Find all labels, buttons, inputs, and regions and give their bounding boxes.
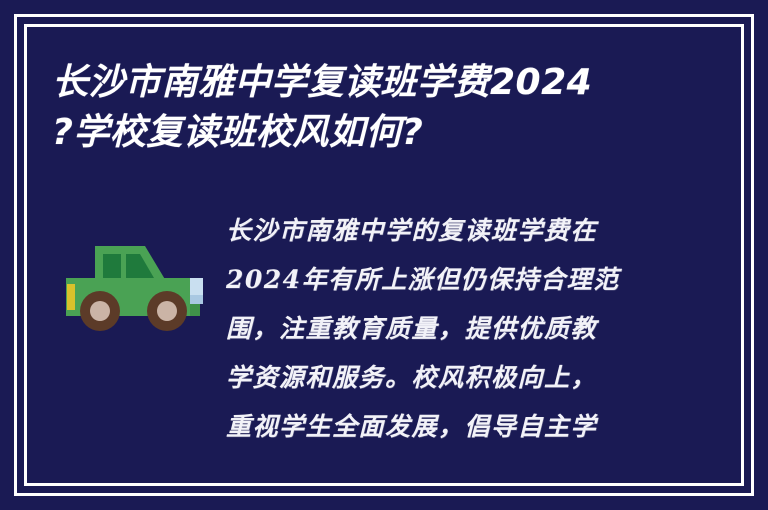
truck-illustration — [62, 232, 214, 340]
body-line-5: 重视学生全面发展，倡导自主学 — [226, 402, 656, 451]
body-line-4: 学资源和服务。校风积极向上， — [226, 353, 656, 402]
title-line-1: 长沙市南雅中学复读班学费2024 — [52, 58, 742, 108]
body-paragraph: 长沙市南雅中学的复读班学费在 2024年有所上涨但仍保持合理范 围，注重教育质量… — [226, 206, 656, 451]
body-line-3: 围，注重教育质量，提供优质教 — [226, 304, 656, 353]
body-line-2: 2024年有所上涨但仍保持合理范 — [226, 255, 656, 304]
green-pickup-truck-icon — [62, 232, 214, 340]
title-line-2: ?学校复读班校风如何? — [52, 108, 742, 158]
body-line-1: 长沙市南雅中学的复读班学费在 — [226, 206, 656, 255]
page-title: 长沙市南雅中学复读班学费2024 ?学校复读班校风如何? — [52, 58, 742, 158]
poster-canvas: 长沙市南雅中学复读班学费2024 ?学校复读班校风如何? — [0, 0, 768, 510]
